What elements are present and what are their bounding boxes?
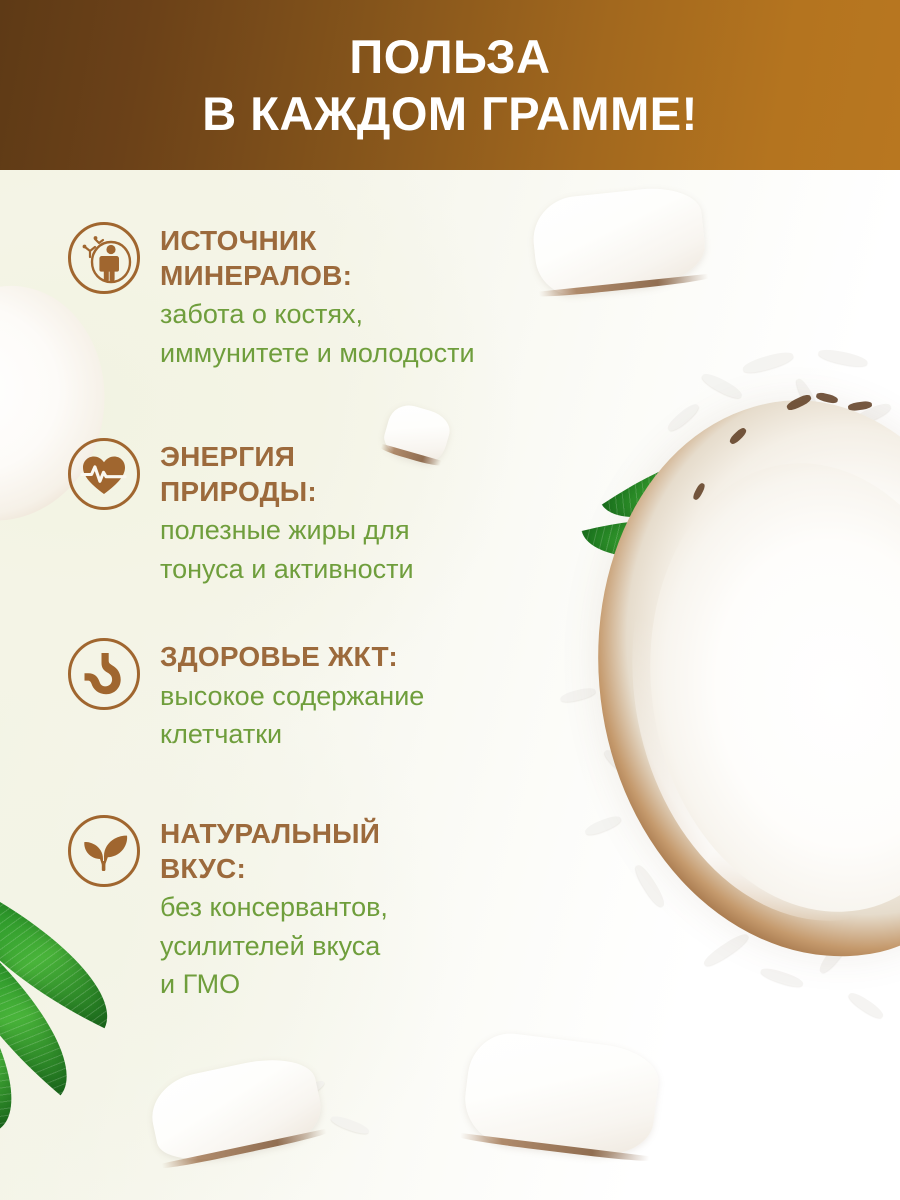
benefit-item-minerals: ИСТОЧНИК МИНЕРАЛОВ: забота о костях, имм…: [68, 222, 475, 372]
stomach-icon: [68, 638, 140, 710]
benefit-title: ЗДОРОВЬЕ ЖКТ:: [160, 640, 424, 675]
header-title-line-2: В КАЖДОМ ГРАММЕ!: [202, 85, 697, 142]
benefit-description: высокое содержание клетчатки: [160, 677, 424, 754]
benefit-title: НАТУРАЛЬНЫЙ ВКУС:: [160, 817, 388, 886]
immunity-person-icon: [68, 222, 140, 294]
benefit-text: НАТУРАЛЬНЫЙ ВКУС: без консервантов, усил…: [160, 815, 388, 1003]
infographic-poster: ПОЛЬЗА В КАЖДОМ ГРАММЕ! ИСТОЧНИК МИНЕРАЛ…: [0, 0, 900, 1200]
benefit-item-digestion: ЗДОРОВЬЕ ЖКТ: высокое содержание клетчат…: [68, 638, 424, 753]
benefit-item-natural: НАТУРАЛЬНЫЙ ВКУС: без консервантов, усил…: [68, 815, 388, 1003]
benefit-description: полезные жиры для тонуса и активности: [160, 511, 414, 588]
header-title-line-1: ПОЛЬЗА: [349, 28, 550, 85]
heart-pulse-icon: [68, 438, 140, 510]
benefit-text: ЗДОРОВЬЕ ЖКТ: высокое содержание клетчат…: [160, 638, 424, 753]
sprout-leaves-icon: [68, 815, 140, 887]
benefit-description: забота о костях, иммунитете и молодости: [160, 295, 475, 372]
benefit-description: без консервантов, усилителей вкуса и ГМО: [160, 888, 388, 1003]
background: [0, 0, 900, 1200]
benefit-text: ЭНЕРГИЯ ПРИРОДЫ: полезные жиры для тонус…: [160, 438, 414, 588]
benefit-title: ИСТОЧНИК МИНЕРАЛОВ:: [160, 224, 475, 293]
benefit-item-energy: ЭНЕРГИЯ ПРИРОДЫ: полезные жиры для тонус…: [68, 438, 414, 588]
benefit-text: ИСТОЧНИК МИНЕРАЛОВ: забота о костях, имм…: [160, 222, 475, 372]
benefit-title: ЭНЕРГИЯ ПРИРОДЫ:: [160, 440, 414, 509]
header-banner: ПОЛЬЗА В КАЖДОМ ГРАММЕ!: [0, 0, 900, 170]
